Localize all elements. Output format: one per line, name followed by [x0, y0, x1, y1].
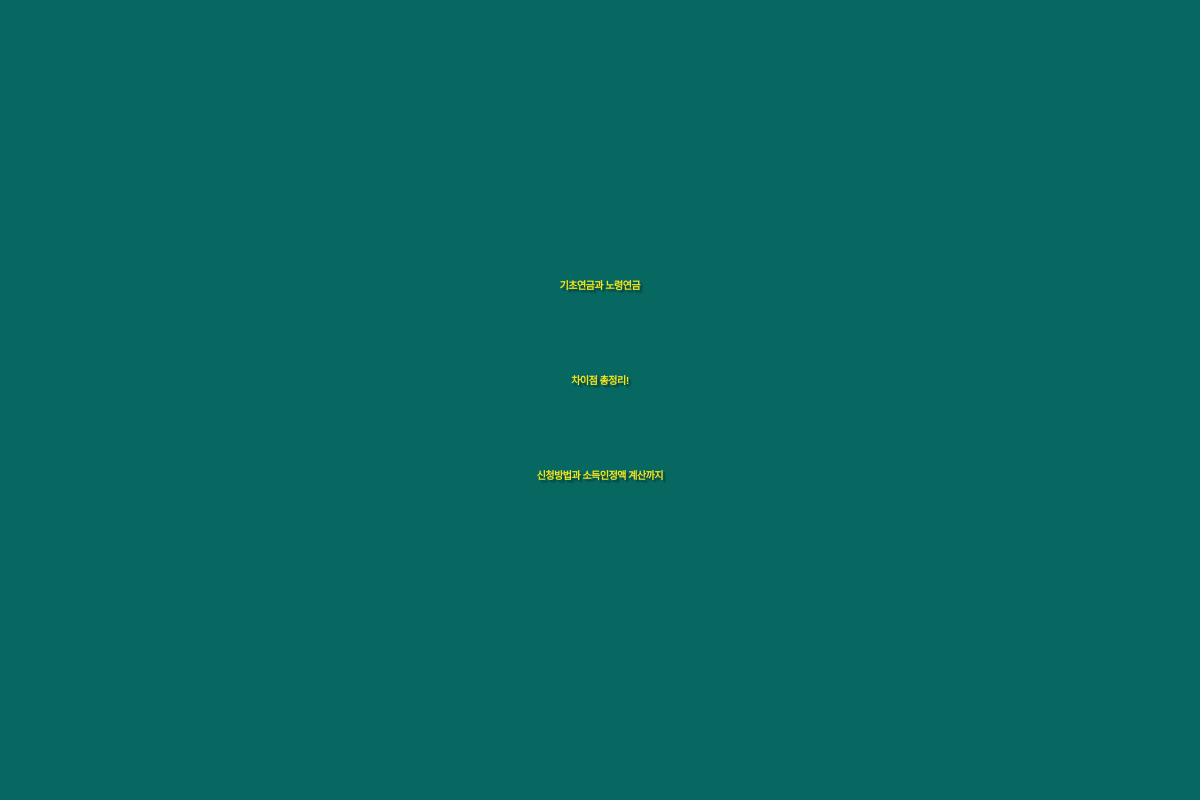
title-block: 기초연금과 노령연금 차이점 총정리! 신청방법과 소득인정액 계산까지: [0, 239, 1200, 562]
title-line-3: 신청방법과 소득인정액 계산까지: [0, 429, 1200, 524]
thumbnail-canvas: 기초연금과 노령연금 차이점 총정리! 신청방법과 소득인정액 계산까지: [0, 0, 1200, 800]
title-line-2: 차이점 총정리!: [0, 334, 1200, 429]
title-line-1: 기초연금과 노령연금: [0, 239, 1200, 334]
